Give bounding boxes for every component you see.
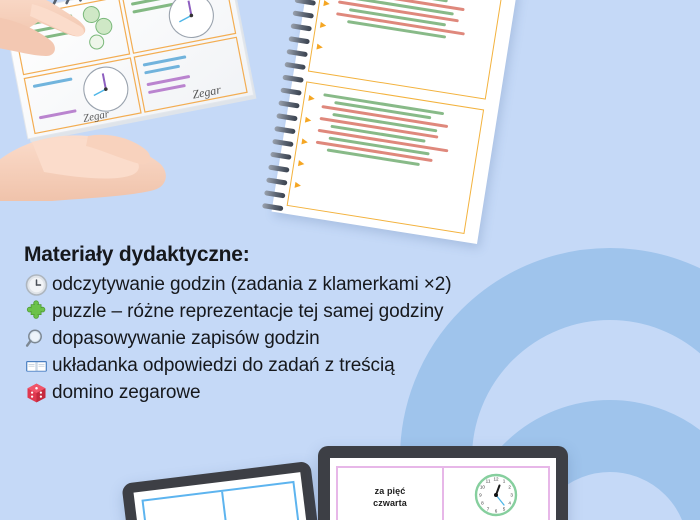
svg-text:10: 10 bbox=[480, 484, 486, 489]
clock-icon bbox=[24, 273, 49, 297]
svg-text:2: 2 bbox=[508, 484, 511, 489]
open-book-icon bbox=[24, 354, 49, 378]
svg-text:1: 1 bbox=[503, 478, 506, 483]
analog-clock-face: 12 1 2 3 4 5 6 7 8 9 10 bbox=[473, 472, 519, 520]
svg-text:11: 11 bbox=[486, 478, 491, 483]
poster-canvas: Zegar Zegar bbox=[0, 0, 700, 520]
svg-text:12: 12 bbox=[493, 476, 499, 481]
materials-text-block: Materiały dydaktyczne: odczytywanie godz… bbox=[24, 243, 554, 407]
list-item-label: układanka odpowiedzi do zadań z treścią bbox=[52, 355, 395, 377]
time-match-card-row: za pięć czwarta 12 1 2 3 bbox=[336, 466, 550, 520]
puzzle-icon bbox=[24, 300, 49, 324]
materials-list: odczytywanie godzin (zadania z klamerkam… bbox=[24, 272, 554, 406]
svg-text:8: 8 bbox=[481, 500, 484, 505]
list-item: puzzle – różne reprezentacje tej samej g… bbox=[24, 299, 554, 325]
notebook-text-box-2 bbox=[287, 81, 484, 234]
list-item-label: odczytywanie godzin (zadania z klamerkam… bbox=[52, 274, 451, 296]
time-text-cell: za pięć czwarta bbox=[338, 468, 444, 520]
svg-text:9: 9 bbox=[479, 492, 482, 497]
magnifier-icon bbox=[24, 327, 49, 351]
notebook-text-box-1 bbox=[308, 0, 503, 100]
clock-face-cell: 12 1 2 3 4 5 6 7 8 9 10 bbox=[444, 468, 548, 520]
svg-text:4: 4 bbox=[508, 500, 511, 505]
svg-text:3: 3 bbox=[510, 492, 513, 497]
puzzle-matching-card: Dwadzieścia minut temu… bbox=[141, 481, 305, 520]
svg-text:5: 5 bbox=[503, 506, 506, 511]
time-card-text: za pięć czwarta bbox=[373, 485, 407, 509]
list-item-label: puzzle – różne reprezentacje tej samej g… bbox=[52, 301, 443, 323]
puzzle-divider bbox=[221, 492, 233, 520]
list-item: układanka odpowiedzi do zadań z treścią bbox=[24, 353, 554, 379]
list-item: dopasowywanie zapisów godzin bbox=[24, 326, 554, 352]
list-item-label: domino zegarowe bbox=[52, 382, 200, 404]
tablet-left-screen: Dwadzieścia minut temu… bbox=[134, 472, 313, 520]
list-item: domino zegarowe bbox=[24, 380, 554, 406]
tablet-right-device: za pięć czwarta 12 1 2 3 bbox=[318, 446, 568, 520]
tablet-right-screen: za pięć czwarta 12 1 2 3 bbox=[330, 458, 556, 520]
svg-text:6: 6 bbox=[495, 508, 498, 513]
page-title: Materiały dydaktyczne: bbox=[24, 243, 554, 267]
dice-icon bbox=[24, 381, 49, 405]
list-item-label: dopasowywanie zapisów godzin bbox=[52, 328, 320, 350]
svg-text:7: 7 bbox=[487, 506, 490, 511]
hands-holding-booklet-photo: Zegar Zegar bbox=[0, 0, 292, 201]
list-item: odczytywanie godzin (zadania z klamerkam… bbox=[24, 272, 554, 298]
tablet-left-device: Dwadzieścia minut temu… bbox=[121, 461, 324, 520]
